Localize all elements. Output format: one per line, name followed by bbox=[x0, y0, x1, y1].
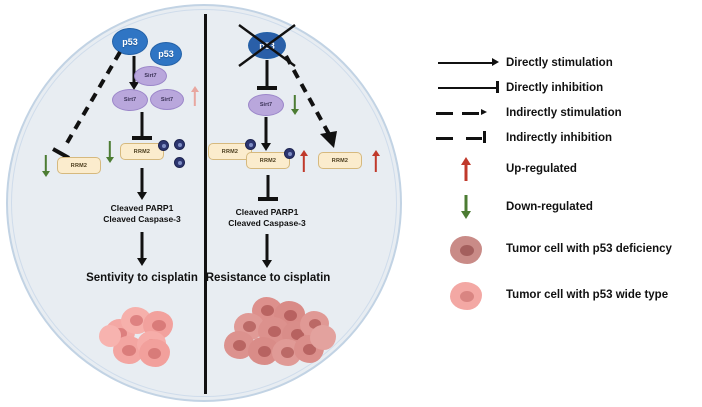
legend-item-tumor-cell-deficiency: Tumor cell with p53 deficiency bbox=[432, 226, 698, 272]
arrow-p53-to-sirt7-inhibition-right bbox=[255, 60, 279, 94]
legend-label-tumor-cell-deficiency: Tumor cell with p53 deficiency bbox=[506, 243, 672, 255]
sirt7-node-right: Sirt7 bbox=[248, 94, 284, 116]
legend-label-indirectly-stimulation: Indirectly stimulation bbox=[506, 107, 622, 119]
arrow-sirt7-to-rrm2-inhibition bbox=[130, 112, 154, 142]
legend-label-down-regulated: Down-regulated bbox=[506, 201, 593, 213]
rrm2-box-left-degraded: RRM2 bbox=[57, 157, 101, 174]
sirt7-node-1: Sirt7 bbox=[134, 66, 167, 86]
legend-item-tumor-cell-wildtype: Tumor cell with p53 wide type bbox=[432, 272, 698, 318]
ubiquitin-marker-on-rrm2-right-2 bbox=[284, 148, 295, 159]
free-ubiquitin-marker-1 bbox=[174, 139, 185, 150]
ubiquitin-marker-on-rrm2-right-1 bbox=[245, 139, 256, 150]
sirt7-node-2: Sirt7 bbox=[112, 89, 148, 111]
tumor-cell-wildtype-icon bbox=[432, 272, 506, 318]
arrow-p53-to-rrm2-indirect-stimulation bbox=[282, 52, 362, 156]
legend-item-directly-stimulation: Directly stimulation bbox=[432, 50, 698, 75]
dashed-arrow-icon bbox=[432, 100, 506, 125]
legend: Directly stimulation Directly inhibition… bbox=[432, 50, 698, 318]
tumor-cluster-p53-deficiency bbox=[222, 295, 340, 375]
legend-item-indirectly-inhibition: Indirectly inhibition bbox=[432, 125, 698, 150]
p53-node-secondary: p53 bbox=[150, 42, 182, 66]
solid-arrow-icon bbox=[432, 50, 506, 75]
legend-label-tumor-cell-wildtype: Tumor cell with p53 wide type bbox=[506, 289, 668, 301]
effector-label-right: Cleaved PARP1 Cleaved Caspase-3 bbox=[187, 207, 347, 229]
tumor-cluster-p53-wildtype bbox=[99, 303, 189, 365]
legend-item-indirectly-stimulation: Indirectly stimulation bbox=[432, 100, 698, 125]
rrm2-down-regulated-arrow-left-main bbox=[105, 141, 114, 163]
solid-bar-icon bbox=[432, 75, 506, 100]
dashed-bar-icon bbox=[432, 125, 506, 150]
legend-label-directly-stimulation: Directly stimulation bbox=[506, 57, 613, 69]
legend-item-directly-inhibition: Directly inhibition bbox=[432, 75, 698, 100]
rrm2-up-regulated-arrow-right-2 bbox=[299, 150, 308, 172]
down-arrow-icon bbox=[432, 188, 506, 226]
rrm2-box-right-3: RRM2 bbox=[318, 152, 362, 169]
arrow-effectors-to-outcome-left bbox=[136, 232, 148, 266]
effector-line-1-right: Cleaved PARP1 bbox=[187, 207, 347, 218]
ubiquitin-marker-on-rrm2-left bbox=[158, 140, 169, 151]
free-ubiquitin-marker-2 bbox=[174, 157, 185, 168]
sirt7-up-regulated-arrow-left bbox=[190, 86, 199, 106]
legend-item-down-regulated: Down-regulated bbox=[432, 188, 698, 226]
arrow-rrm2-to-effectors-right-inhibition bbox=[256, 175, 280, 205]
arrow-effectors-to-outcome-right bbox=[261, 234, 273, 268]
rrm2-up-regulated-arrow-right-3 bbox=[371, 150, 380, 172]
legend-label-up-regulated: Up-regulated bbox=[506, 163, 577, 175]
legend-label-indirectly-inhibition: Indirectly inhibition bbox=[506, 132, 612, 144]
legend-label-directly-inhibition: Directly inhibition bbox=[506, 82, 603, 94]
arrow-rrm2-to-effectors-left bbox=[136, 168, 148, 200]
arrow-sirt7-to-rrm2-right bbox=[260, 117, 272, 151]
up-arrow-icon bbox=[432, 150, 506, 188]
effector-line-2-right: Cleaved Caspase-3 bbox=[187, 218, 347, 229]
legend-item-up-regulated: Up-regulated bbox=[432, 150, 698, 188]
outcome-label-right: Resistance to cisplatin bbox=[165, 272, 371, 284]
tumor-cell-deficiency-icon bbox=[432, 226, 506, 272]
diagram-canvas: p53 p53 Sirt7 Sirt7 Sirt7 RRM2 RRM2 bbox=[0, 0, 702, 407]
sirt7-node-3: Sirt7 bbox=[150, 89, 184, 110]
rrm2-down-regulated-arrow-left-degraded bbox=[41, 155, 50, 177]
